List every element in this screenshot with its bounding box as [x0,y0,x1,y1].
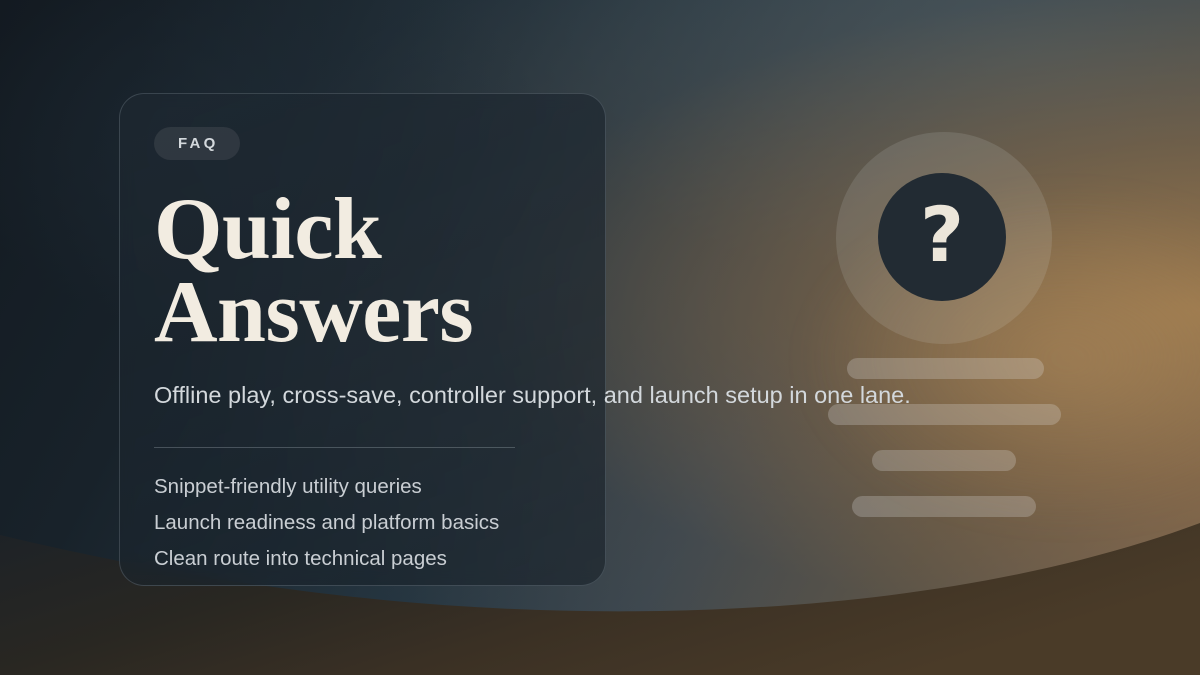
faq-topic-list: Snippet-friendly utility queries Launch … [154,469,571,578]
card-divider [154,447,515,448]
list-item: Snippet-friendly utility queries [154,469,571,505]
page-title-line-1: Quick [154,189,571,272]
status-badge: FAQ [154,127,240,160]
decor-bar-4 [852,496,1036,517]
page-subtitle: Offline play, cross-save, controller sup… [154,380,571,410]
question-disc-icon: ? [878,173,1006,301]
faq-card: FAQ Quick Answers Offline play, cross-sa… [119,93,606,586]
decor-bar-1 [847,358,1044,379]
decor-bar-3 [872,450,1016,471]
faq-illustration: ? [836,132,1052,532]
page-title: Quick Answers [154,189,571,354]
question-mark-icon: ? [920,197,964,273]
list-item: Launch readiness and platform basics [154,505,571,541]
list-item: Clean route into technical pages [154,541,571,577]
page-title-line-2: Answers [154,272,571,355]
hero-stage: ? FAQ Quick Answers Offline play, cross-… [0,0,1200,675]
